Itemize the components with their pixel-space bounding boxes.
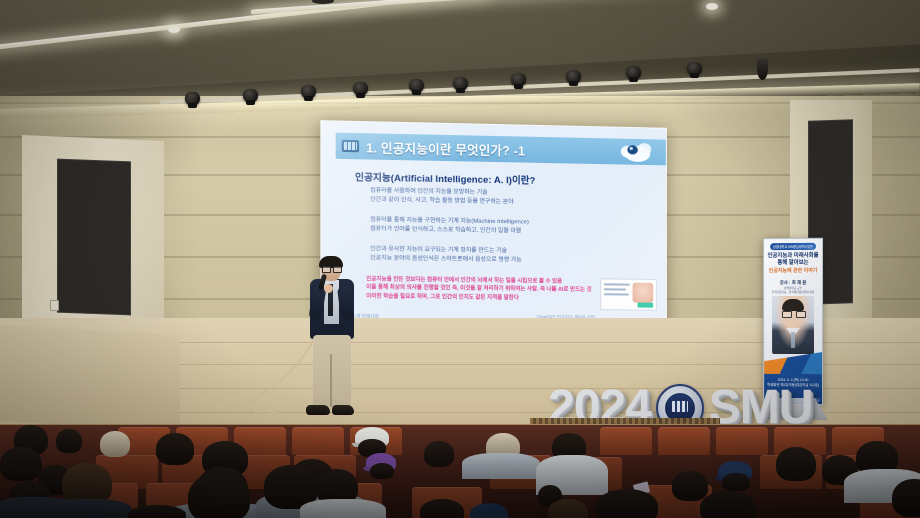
slide-highlight-line: 이러한 학습을 필요로 하며, 그로 인간의 인지도 같은 지적을 말한다 (366, 292, 591, 303)
stage-spotlight (757, 58, 768, 80)
stage-spotlight (687, 62, 702, 76)
slide-title: 1. 인공지능이란 무엇인가? -1 (366, 137, 525, 159)
stage-spotlight (511, 73, 526, 87)
audience-shoulders (44, 499, 132, 518)
audience-member (722, 473, 750, 491)
thumbnail-button (638, 303, 654, 308)
slide-body-line: 인간과 같이 인식, 사고, 학습 활동 방법 등을 연구하는 분야 (370, 196, 513, 207)
slide-title-bar: 1. 인공지능이란 무엇인가? -1 (336, 133, 666, 166)
banner-badge: 상명대학교 SW중심대학사업단 (770, 243, 816, 250)
audience-shoulders (462, 453, 540, 479)
presenter-trousers (313, 335, 351, 407)
slide-title-badge-icon (342, 140, 359, 152)
audience-member (548, 499, 588, 518)
banner-speaker-name: 강사 : 최 재 원 (767, 280, 819, 286)
presenter-hand (324, 284, 333, 293)
slide-body-group: 컴퓨터를 사용하여 인간의 지능을 모방하는 기술 인간과 같이 인식, 사고,… (370, 187, 513, 208)
audience-member (156, 433, 194, 465)
slide-highlight-block: 인공지능을 만든 것보다는 컴퓨터 안에서 인간의 뇌에서 하는 일을 시킴으로… (366, 275, 591, 303)
banner-speaker-photo (772, 296, 814, 354)
audience-cap (470, 503, 508, 518)
presenter-glasses-icon (322, 266, 340, 271)
banner-affiliation-line-2: 한국인공지능 · 블록체인융합학회 회장 (767, 291, 819, 295)
auditorium-seat[interactable] (600, 427, 652, 455)
audience-member (0, 447, 42, 481)
audience-member (128, 505, 186, 518)
audience-member (672, 471, 708, 501)
stage-spotlight (626, 66, 641, 80)
presenter (302, 258, 364, 420)
presenter-leg-seam (330, 354, 332, 407)
auditorium-seat[interactable] (716, 427, 768, 455)
presenter-shoe (332, 405, 354, 415)
left-dark-recess-panel (57, 159, 131, 316)
banner-photo-glasses-icon (782, 311, 804, 316)
presenter-shoe (306, 405, 330, 415)
stage-spotlight (566, 70, 581, 84)
slide-body-line: 인공지능 분야의 음성인식은 스마트폰에서 음성으로 명령 가능 (370, 254, 521, 265)
banner-photo-tie (791, 332, 795, 348)
banner-subtitle: 인공지능에 관한 이야기 (767, 268, 819, 275)
audience-member (892, 479, 920, 517)
audience-member (700, 491, 756, 518)
audience-member (424, 441, 454, 467)
banner-title-line-2: 통해 알아보는 (767, 260, 819, 267)
stage-spotlight (185, 92, 200, 106)
banner-photo-hair (782, 299, 804, 311)
audience-area (0, 425, 920, 518)
audience-member (370, 463, 394, 479)
auditorium-seat[interactable] (292, 427, 344, 455)
banner-affiliation: 상명대학교 교수 한국인공지능 · 블록체인융합학회 회장 (767, 287, 819, 295)
audience-member (56, 429, 82, 453)
cloud-eye-logo-icon (619, 140, 652, 164)
banner-title: 인공지능과 미래사회를 통해 알아보는 (767, 253, 819, 267)
ceiling-downlight (168, 26, 180, 33)
auditorium-seat[interactable] (658, 427, 710, 455)
slide-body-group: 인간과 유사한 지능이 요구되는 기계 장치를 만드는 기술 인공지능 분야의 … (370, 245, 521, 265)
banner-diagonal-graphic (764, 352, 822, 374)
banner-badge-label: 상명대학교 SW중심대학사업단 (773, 244, 814, 249)
audience-member (188, 473, 250, 518)
ceiling-downlight (706, 3, 718, 10)
stage-spotlight (453, 77, 468, 91)
slide-image-thumbnail (600, 278, 657, 310)
presentation-slide: 1. 인공지능이란 무엇인가? -1 인공지능(Artificial Intel… (321, 121, 666, 328)
audience-member (420, 499, 464, 518)
stage-spotlight (243, 89, 258, 103)
auditorium-photo: 1. 인공지능이란 무엇인가? -1 인공지능(Artificial Intel… (0, 0, 920, 518)
audience-member (596, 489, 658, 518)
audience-shoulders (300, 499, 386, 518)
wall-switch-plate[interactable] (50, 300, 59, 311)
slide-subtitle: 인공지능(Artificial Intelligence: A. I)이란? (355, 169, 535, 186)
stage-spotlight (301, 85, 316, 99)
slide-body-group: 컴퓨터를 통해 지능을 구현하는 기계 지능(Machine Intellige… (370, 216, 529, 237)
audience-member (776, 447, 816, 481)
stage-spotlight (353, 82, 368, 96)
slide-body-line: 컴퓨터가 언어를 인식하고, 스스로 학습하고, 인간의 일을 이행 (370, 225, 529, 236)
stage-spotlight (409, 79, 424, 93)
thumbnail-face-image (633, 283, 654, 303)
projection-screen: 1. 인공지능이란 무엇인가? -1 인공지능(Artificial Intel… (320, 120, 666, 329)
stage-side-riser (0, 325, 180, 430)
audience-member (100, 431, 130, 457)
